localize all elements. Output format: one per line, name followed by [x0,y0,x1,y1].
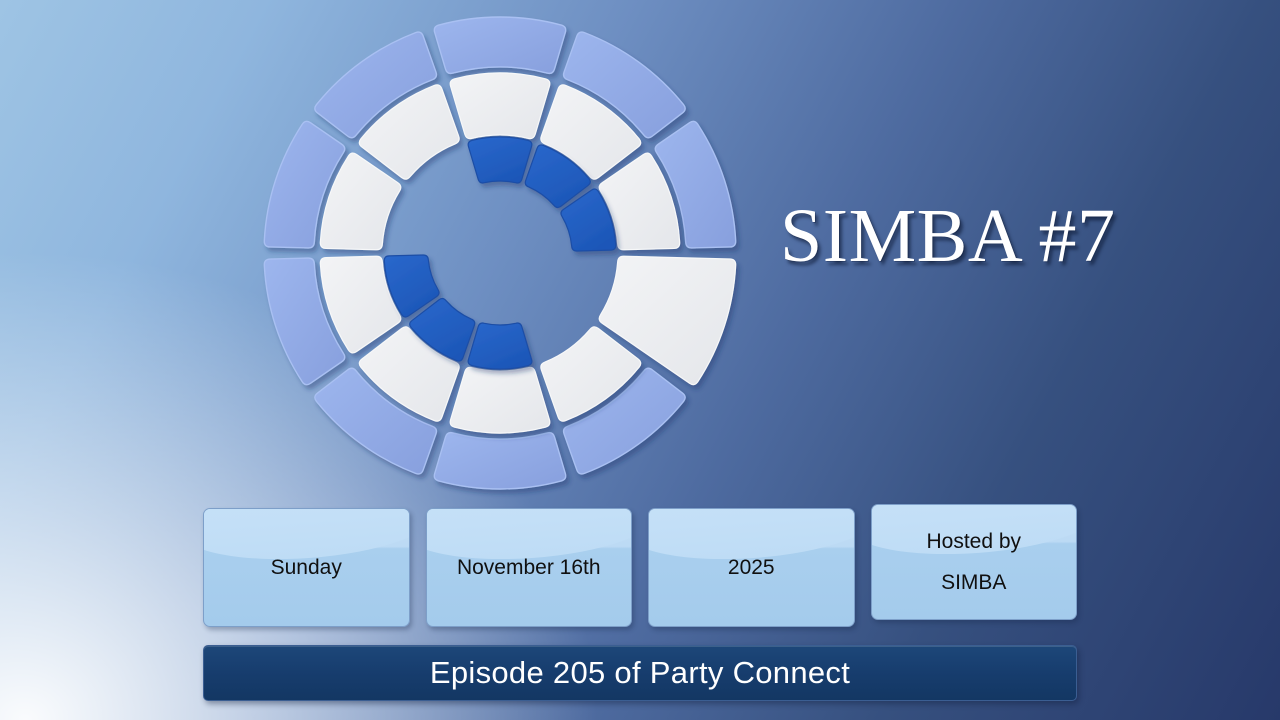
segmented-wheel-logo [240,10,760,490]
wheel-segment [468,137,532,183]
info-card-date-line1: November 16th [457,556,601,580]
wheel-segment [468,323,532,369]
info-card-host-line1: Hosted by [926,530,1021,554]
episode-bar[interactable]: Episode 205 of Party Connect [203,645,1077,701]
info-card-year-line1: 2025 [728,556,775,580]
info-card-host-line2: SIMBA [941,571,1006,595]
page-title: SIMBA #7 [780,198,1110,274]
info-card-date[interactable]: November 16th [426,508,633,627]
wheel-inner-ring [384,137,615,369]
info-card-day-line1: Sunday [271,556,342,580]
wheel-middle-ring [320,73,735,433]
info-card-day[interactable]: Sunday [203,508,410,627]
wheel-segment [450,73,550,139]
info-card-host[interactable]: Hosted by SIMBA [871,504,1078,620]
wheel-segment [450,367,550,433]
wheel-segment [434,17,565,73]
wheel-segment [434,433,565,489]
episode-bar-label: Episode 205 of Party Connect [430,655,850,691]
info-card-year[interactable]: 2025 [648,508,855,627]
info-card-row: Sunday November 16th 2025 Hosted by SIMB… [203,508,1077,632]
